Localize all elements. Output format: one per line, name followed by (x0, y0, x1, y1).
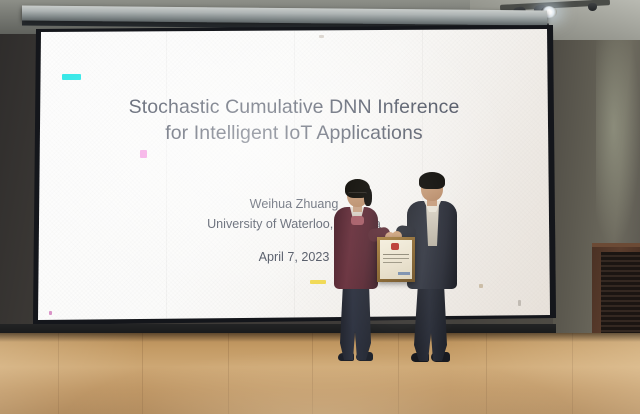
certificate-seal-icon (391, 243, 399, 250)
wall-vent-cabinet-top (592, 243, 640, 247)
certificate-text-line (383, 262, 402, 263)
floor-near-wall-shadow (0, 333, 640, 342)
certificate-text-line (383, 258, 409, 259)
certificate-text-line (383, 254, 409, 255)
floor-light-reflection (0, 333, 640, 414)
hair (419, 172, 445, 189)
right-wall-highlight (596, 30, 640, 245)
wall-vent-louvers (601, 252, 640, 334)
projection-screen: Stochastic Cumulative DNN Inference for … (38, 28, 550, 320)
certificate-signature (398, 272, 410, 275)
scarf (351, 216, 364, 225)
glasses-icon (348, 192, 367, 198)
spotlight-icon (588, 3, 597, 11)
photo-scene: Stochastic Cumulative DNN Inference for … (0, 0, 640, 414)
screen-vignette (38, 28, 550, 320)
